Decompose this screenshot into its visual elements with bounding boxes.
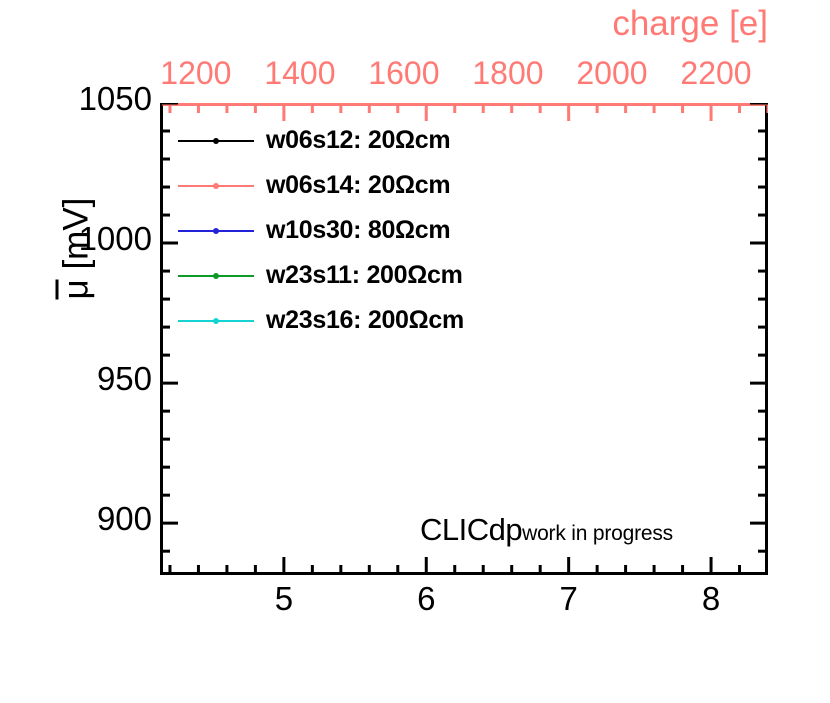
- x-tick-label-7: 7: [529, 580, 609, 618]
- top-tick-label-1600: 1600: [354, 55, 454, 92]
- y-tick-label-1050: 1050: [0, 80, 152, 118]
- y-axis-title: μ [mV]: [56, 129, 97, 369]
- top-tick-label-2000: 2000: [562, 55, 662, 92]
- legend-swatch-icon: [178, 134, 254, 148]
- legend-marker-dot: [213, 273, 219, 279]
- legend-marker-dot: [213, 318, 219, 324]
- y-axis-title-mu: μ: [56, 279, 93, 299]
- watermark: CLICdpwork in progress: [420, 512, 673, 548]
- top-tick-label-2200: 2200: [666, 55, 766, 92]
- legend-swatch-icon: [178, 269, 254, 283]
- watermark-collaboration: CLICdp: [420, 512, 522, 547]
- watermark-status: work in progress: [522, 522, 673, 545]
- y-tick-label-900: 900: [0, 500, 152, 538]
- legend: w06s12: 20Ωcmw06s14: 20Ωcmw10s30: 80Ωcmw…: [178, 118, 508, 343]
- legend-item-label: w23s11: 200Ωcm: [266, 261, 463, 290]
- top-tick-label-1200: 1200: [146, 55, 246, 92]
- legend-item-label: w23s16: 200Ωcm: [266, 306, 464, 335]
- legend-item-label: w06s14: 20Ωcm: [266, 171, 450, 200]
- legend-item-label: w10s30: 80Ωcm: [266, 216, 450, 245]
- legend-marker-dot: [213, 228, 219, 234]
- legend-item-0[interactable]: w06s12: 20Ωcm: [178, 118, 508, 163]
- legend-item-4[interactable]: w23s16: 200Ωcm: [178, 298, 508, 343]
- top-axis-title: charge [e]: [612, 4, 768, 44]
- legend-swatch-icon: [178, 224, 254, 238]
- legend-item-label: w06s12: 20Ωcm: [266, 126, 450, 155]
- legend-marker-dot: [213, 183, 219, 189]
- legend-item-3[interactable]: w23s11: 200Ωcm: [178, 253, 508, 298]
- legend-marker-dot: [213, 138, 219, 144]
- legend-swatch-icon: [178, 179, 254, 193]
- top-tick-label-1800: 1800: [458, 55, 558, 92]
- y-axis-title-unit: [mV]: [57, 198, 96, 280]
- x-tick-label-6: 6: [386, 580, 466, 618]
- legend-item-2[interactable]: w10s30: 80Ωcm: [178, 208, 508, 253]
- x-tick-label-8: 8: [671, 580, 751, 618]
- top-tick-label-1400: 1400: [250, 55, 350, 92]
- legend-item-1[interactable]: w06s14: 20Ωcm: [178, 163, 508, 208]
- x-tick-label-5: 5: [244, 580, 324, 618]
- chart-root: charge [e] 120014001600180020002200 9009…: [0, 0, 830, 703]
- legend-swatch-icon: [178, 314, 254, 328]
